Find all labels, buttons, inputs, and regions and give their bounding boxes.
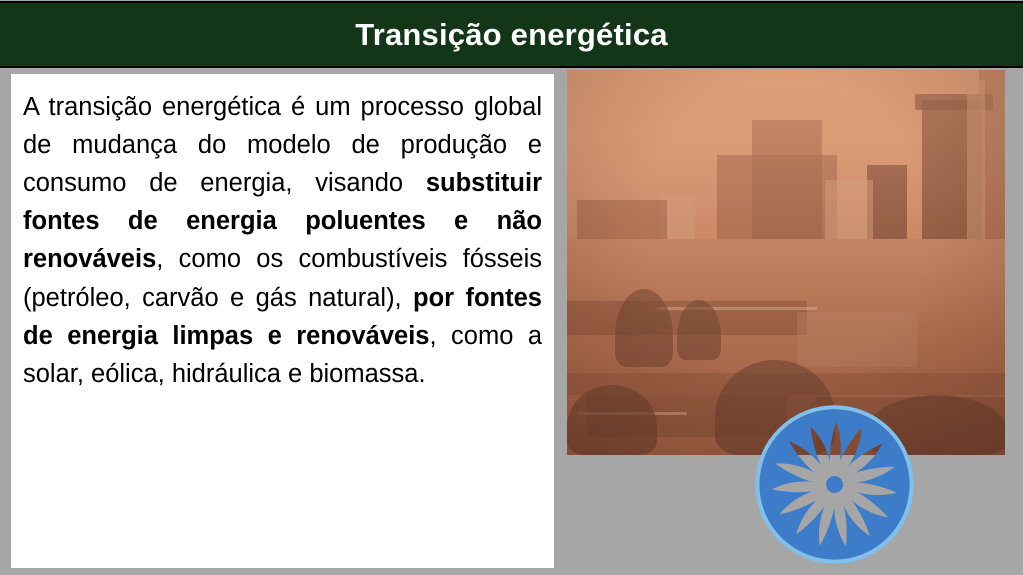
- slide-title-bar: Transição energética: [0, 1, 1023, 68]
- energia-renovavel-logo: [752, 402, 917, 567]
- body-paragraph: A transição energética é um processo glo…: [23, 88, 542, 393]
- content-text-card: A transição energética é um processo glo…: [11, 74, 554, 568]
- page-title: Transição energética: [355, 19, 667, 50]
- logo-disk: [759, 409, 909, 559]
- slide-canvas: Transição energética A transição energét…: [0, 0, 1023, 575]
- cityscape-photo: [567, 70, 1005, 455]
- photo-vignette: [567, 70, 1005, 455]
